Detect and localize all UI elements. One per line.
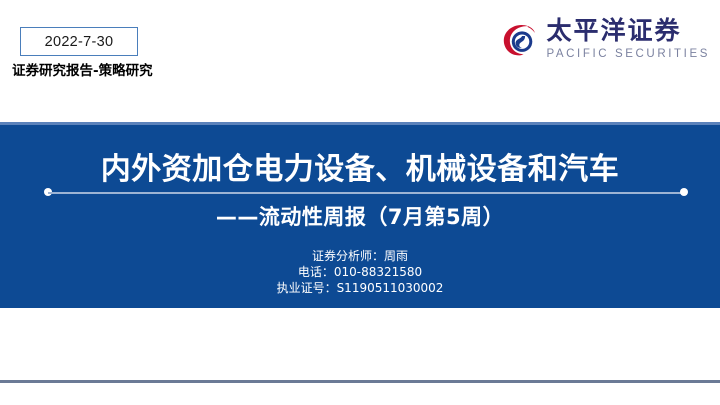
report-category-label: 证券研究报告-策略研究 [12, 59, 153, 79]
page-header: 2022-7-30 证券研究报告-策略研究 太平洋证券 PACIFIC SECU… [0, 0, 720, 122]
analyst-info-block: 证券分析师：周雨 电话：010-88321580 执业证号：S119051103… [0, 248, 720, 296]
analyst-name-line: 证券分析师：周雨 [0, 248, 720, 264]
report-date-badge: 2022-7-30 [20, 27, 138, 56]
report-date-text: 2022-7-30 [45, 34, 114, 50]
brand-logo: 太平洋证券 PACIFIC SECURITIES [500, 18, 710, 60]
brand-wordmark: 太平洋证券 PACIFIC SECURITIES [546, 18, 710, 60]
hero-top-stripe [0, 122, 720, 125]
analyst-license-line: 执业证号：S1190511030002 [0, 280, 720, 296]
footer-divider-rule [0, 380, 720, 383]
hero-banner: 内外资加仓电力设备、机械设备和汽车 ——流动性周报（7月第5周） 证券分析师：周… [0, 122, 720, 308]
report-title: 内外资加仓电力设备、机械设备和汽车 [0, 144, 720, 188]
brand-name-english: PACIFIC SECURITIES [546, 48, 710, 60]
divider-rule [48, 192, 684, 194]
analyst-phone-line: 电话：010-88321580 [0, 264, 720, 280]
divider-dot-right [680, 188, 688, 196]
hero-divider [44, 188, 688, 197]
brand-name-chinese: 太平洋证券 [546, 18, 681, 44]
pacific-securities-swirl-icon [500, 20, 538, 58]
report-subtitle: ——流动性周报（7月第5周） [0, 201, 720, 231]
